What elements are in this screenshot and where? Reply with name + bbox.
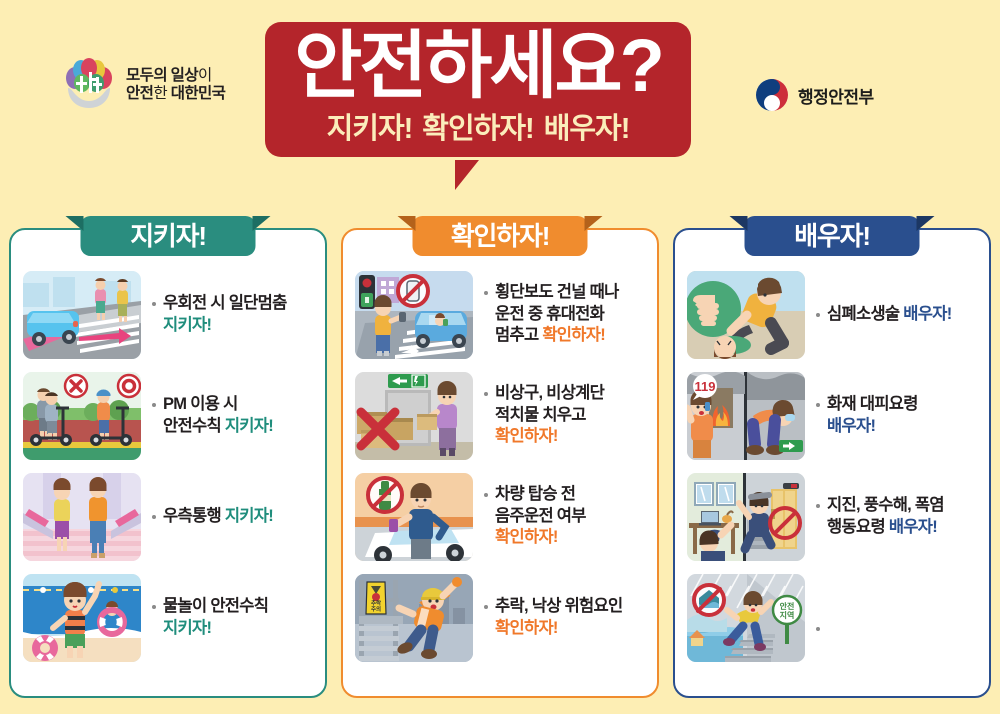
fire-escape-119-illustration-icon: 119 xyxy=(687,372,805,460)
list-item-highlight: 지키자! xyxy=(163,619,211,637)
emergency-number-label: 119 xyxy=(695,379,716,394)
list-item: 지진, 풍수해, 폭염 행동요령 배우자! xyxy=(687,466,977,567)
svg-text:추락: 추락 xyxy=(371,599,381,607)
stairs-keep-right-illustration-icon xyxy=(23,473,141,561)
list-item-text: 심폐소생술 배우자! xyxy=(815,304,952,326)
water-play-lifejacket-illustration-icon xyxy=(23,574,141,662)
emergency-exit-blocked-boxes-illustration-icon xyxy=(355,372,473,460)
list-item-highlight: 지키자! xyxy=(225,507,273,525)
list-item-line-1: 횡단보도 건널 때나 xyxy=(495,283,619,301)
ribbon-tail-right xyxy=(917,216,935,231)
title-speech-bubble: 안전하세요? 지키자!확인하자!배우자! xyxy=(265,22,691,157)
list-item-text: 추락, 낙상 위험요인 확인하자! xyxy=(483,596,623,640)
list-item-highlight: 배우자! xyxy=(903,305,951,323)
column-header-check: 확인하자! xyxy=(413,216,588,256)
subtitle-part-1: 지키자! xyxy=(327,113,413,145)
list-item: 추락 주의 xyxy=(355,567,645,668)
safe-zone-label-line1: 안전 xyxy=(780,601,795,611)
list-item: 119 xyxy=(687,365,977,466)
list-item-line-2: 적치물 치우고 xyxy=(495,406,586,424)
content-columns: 지키자! xyxy=(0,228,1000,698)
list-item-text: 차량 탑승 전 음주운전 여부 확인하자! xyxy=(483,484,586,549)
column-header-keep-label: 지키자! xyxy=(130,223,206,249)
list-item-highlight: 배우자! xyxy=(889,518,937,536)
column-header-keep: 지키자! xyxy=(81,216,256,256)
safe-zone-label-line2: 지역 xyxy=(780,610,795,620)
list-item-highlight: 지키자! xyxy=(163,316,211,334)
list-item: 횡단보도 건널 때나 운전 중 휴대전화 멈추고 확인하자! xyxy=(355,264,645,365)
list-item-line-1: 비상구, 비상계단 xyxy=(495,384,604,402)
ribbon-tail-left xyxy=(66,216,84,231)
list-item-text: 우회전 시 일단멈춤 지키자! xyxy=(151,293,287,337)
list-item-text: 지진, 풍수해, 폭염 행동요령 배우자! xyxy=(815,495,944,539)
list-item-line-1: PM 이용 시 xyxy=(163,395,238,413)
list-item: 물놀이 안전수칙 지키자! xyxy=(23,567,313,668)
list-item-line-2: 운전 중 휴대전화 xyxy=(495,305,604,323)
list-item: 안전 지역 xyxy=(687,567,977,668)
people-heart-logo-icon xyxy=(62,58,116,112)
list-item-line-1: 물놀이 안전수칙 xyxy=(163,597,268,615)
earthquake-desk-shelter-illustration-icon xyxy=(687,473,805,561)
list-item-line-3: 멈추고 xyxy=(495,326,542,344)
list-item-highlight: 확인하자! xyxy=(495,528,558,546)
list-item: 비상구, 비상계단 적치물 치우고 확인하자! xyxy=(355,365,645,466)
electric-scooter-safety-illustration-icon xyxy=(23,372,141,460)
list-item-text: 물놀이 안전수칙 지키자! xyxy=(151,596,268,640)
svg-text:주의: 주의 xyxy=(371,605,381,613)
list-item-highlight: 확인하자! xyxy=(495,619,558,637)
brand-logo-right: 행정안전부 xyxy=(755,78,874,112)
ribbon-tail-right xyxy=(253,216,271,231)
list-item-text: 비상구, 비상계단 적치물 치우고 확인하자! xyxy=(483,383,604,448)
fall-hazard-scaffold-illustration-icon: 추락 주의 xyxy=(355,574,473,662)
list-item: PM 이용 시 안전수칙 지키자! xyxy=(23,365,313,466)
page-title: 안전하세요? xyxy=(265,30,691,103)
column-header-check-label: 확인하자! xyxy=(451,223,549,249)
ministry-name: 행정안전부 xyxy=(798,83,874,108)
column-learn: 배우자! xyxy=(673,228,991,698)
list-item-highlight: 지키자! xyxy=(225,417,273,435)
list-item: 차량 탑승 전 음주운전 여부 확인하자! xyxy=(355,466,645,567)
list-item-highlight: 확인하자! xyxy=(542,326,605,344)
list-item-highlight: 배우자! xyxy=(827,417,875,435)
no-drunk-driving-illustration-icon xyxy=(355,473,473,561)
list-item-line-2: 행동요령 xyxy=(827,518,889,536)
subtitle-part-3: 배우자! xyxy=(544,113,630,145)
list-item-line-1: 우회전 시 일단멈춤 xyxy=(163,294,287,312)
list-item-text: 횡단보도 건널 때나 운전 중 휴대전화 멈추고 확인하자! xyxy=(483,282,619,347)
list-item-line-1: 화재 대피요령 xyxy=(827,395,918,413)
list-item: 우회전 시 일단멈춤 지키자! xyxy=(23,264,313,365)
cpr-training-illustration-icon xyxy=(687,271,805,359)
taeguk-government-logo-icon xyxy=(755,78,789,112)
column-header-learn-label: 배우자! xyxy=(794,223,870,249)
list-item-line-1: 차량 탑승 전 xyxy=(495,485,575,503)
flood-evacuate-safe-zone-illustration-icon: 안전 지역 xyxy=(687,574,805,662)
brand-line-2: 안전한 대한민국 xyxy=(126,85,225,103)
page-subtitle: 지키자!확인하자!배우자! xyxy=(265,105,691,147)
crosswalk-no-phone-illustration-icon xyxy=(355,271,473,359)
list-item-line-1: 우측통행 xyxy=(163,507,225,525)
column-check: 확인하자! xyxy=(341,228,659,698)
ribbon-tail-right xyxy=(585,216,603,231)
list-item-line-1: 추락, 낙상 위험요인 xyxy=(495,597,623,615)
list-item-line-1: 지진, 풍수해, 폭염 xyxy=(827,496,944,514)
column-header-learn: 배우자! xyxy=(745,216,920,256)
list-item-text: 화재 대피요령 배우자! xyxy=(815,394,918,438)
list-item: 우측통행 지키자! xyxy=(23,466,313,567)
ribbon-tail-left xyxy=(398,216,416,231)
brand-logo-left: 모두의 일상이 안전한 대한민국 xyxy=(62,58,225,112)
list-item: 심폐소생술 배우자! xyxy=(687,264,977,365)
list-item-line-2: 음주운전 여부 xyxy=(495,507,586,525)
poster-header: 모두의 일상이 안전한 대한민국 안전하세요? 지키자!확인하자!배우자! 행정… xyxy=(0,0,1000,210)
speech-bubble-tail xyxy=(455,160,503,190)
list-item-highlight: 확인하자! xyxy=(495,427,558,445)
brand-line-1: 모두의 일상이 xyxy=(126,67,225,85)
right-turn-crosswalk-stop-illustration-icon xyxy=(23,271,141,359)
ribbon-tail-left xyxy=(730,216,748,231)
column-keep: 지키자! xyxy=(9,228,327,698)
list-item-line-1: 심폐소생술 xyxy=(827,305,903,323)
brand-logo-left-text: 모두의 일상이 안전한 대한민국 xyxy=(126,67,225,104)
list-item-line-2: 안전수칙 xyxy=(163,417,225,435)
list-item-text: PM 이용 시 안전수칙 지키자! xyxy=(151,394,273,438)
list-item-text: 우측통행 지키자! xyxy=(151,506,273,528)
subtitle-part-2: 확인하자! xyxy=(422,113,533,145)
